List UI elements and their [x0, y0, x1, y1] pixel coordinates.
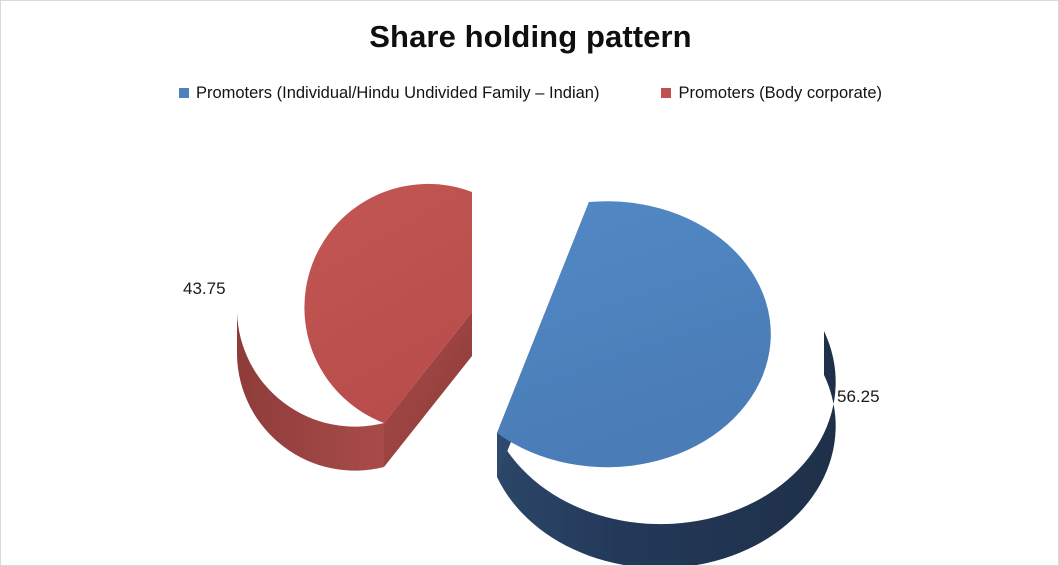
pie-slice-promoters-body-corporate[interactable]	[237, 184, 472, 471]
data-label-blue-slice: 56.25	[837, 387, 880, 406]
data-label-red-slice: 43.75	[183, 279, 226, 298]
chart-container: Share holding pattern Promoters (Individ…	[0, 0, 1059, 566]
pie-plot-area: 43.75 56.25	[1, 1, 1059, 566]
pie-slice-promoters-individual[interactable]	[497, 201, 836, 566]
pie-chart-svg: 43.75 56.25	[1, 1, 1059, 566]
blue-slice-top	[497, 201, 771, 467]
